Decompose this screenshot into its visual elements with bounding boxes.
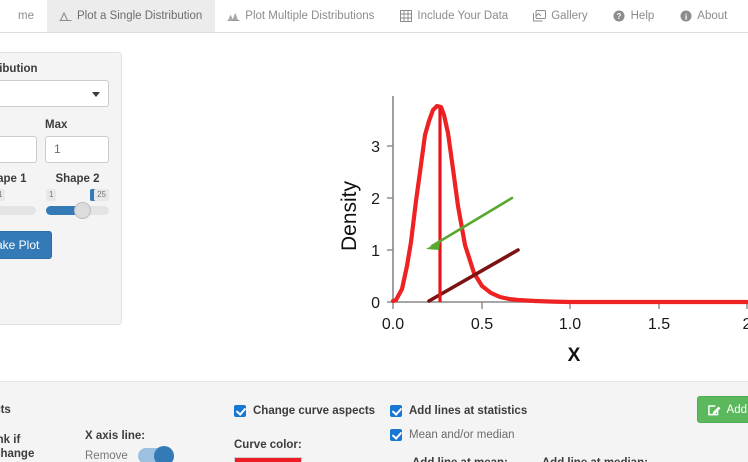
density-plot: 0 1 2 3 0.0 0.5 1.0 1.5 2 Density X xyxy=(130,40,748,370)
density-curve xyxy=(393,106,747,302)
svg-text:?: ? xyxy=(617,12,622,21)
x-tick-label-1: 0.5 xyxy=(471,316,493,333)
y-tick-label-2: 2 xyxy=(371,191,380,208)
app-root: me Plot a Single Distribution Plot Multi… xyxy=(0,0,748,462)
shape1-slider-group: Shape 1 25 1 xyxy=(0,163,36,215)
shape2-slider-handle[interactable] xyxy=(74,202,91,219)
info-circle-icon: i xyxy=(679,10,692,23)
x-tick-label-3: 1.5 xyxy=(648,316,670,333)
shape2-ticks: 1 13 25 xyxy=(46,189,109,203)
max-input[interactable]: 1 xyxy=(45,136,109,163)
shape1-left-tick: 1 xyxy=(0,189,5,201)
shape2-right-tick: 25 xyxy=(94,189,109,201)
tab-home[interactable]: me xyxy=(0,0,47,32)
toggle-knob xyxy=(154,446,174,462)
change-curve-aspects-checkbox-row[interactable]: Change curve aspects xyxy=(234,405,375,417)
change-curve-aspects-checkbox[interactable] xyxy=(234,405,246,417)
tab-help-label: Help xyxy=(631,10,655,22)
add-lines-at-statistics-label: Add lines at statistics xyxy=(409,405,527,417)
x-axis-line-group: X axis line: Remove xyxy=(85,430,174,462)
x-axis-line-value: Remove xyxy=(85,450,128,462)
x-tick-label-0: 0.0 xyxy=(382,316,404,333)
min-field-group: Min 0 xyxy=(0,119,37,163)
max-label: Max xyxy=(45,119,109,131)
distribution-label: Distribution xyxy=(0,63,109,75)
mean-and-or-median-checkbox-row[interactable]: Mean and/or median xyxy=(390,429,648,441)
tab-include-your-data-label: Include Your Data xyxy=(417,10,508,22)
tab-about-label: About xyxy=(697,10,727,22)
tab-plot-single-distribution[interactable]: Plot a Single Distribution xyxy=(47,0,215,32)
change-curve-aspects-group: Change curve aspects Curve color: xyxy=(234,405,375,462)
shape2-slider-track[interactable] xyxy=(46,206,109,215)
tab-home-label: me xyxy=(18,10,34,22)
shape1-title: Shape 1 xyxy=(0,173,36,185)
shape1-ticks: 25 1 xyxy=(0,189,36,203)
x-axis-title: X xyxy=(568,345,581,366)
add-button-label: Add xyxy=(727,404,747,416)
tab-help[interactable]: ? Help xyxy=(601,0,668,32)
chevron-down-icon xyxy=(92,92,100,97)
x-axis-line-label: X axis line: xyxy=(85,430,174,442)
tab-plot-multiple-distributions-label: Plot Multiple Distributions xyxy=(245,10,374,22)
tab-plot-multiple-distributions[interactable]: Plot Multiple Distributions xyxy=(215,0,387,32)
main-navbar: me Plot a Single Distribution Plot Multi… xyxy=(0,0,748,33)
add-button[interactable]: Add xyxy=(697,396,748,423)
max-field-group: Max 1 xyxy=(45,119,109,163)
x-axis-ticks: 0.0 0.5 1.0 1.5 2 xyxy=(382,302,748,333)
tab-gallery[interactable]: Gallery xyxy=(521,0,600,32)
add-line-at-median-label: Add line at median: xyxy=(542,457,648,462)
distribution-select[interactable] xyxy=(0,80,109,107)
x-tick-label-4: 2 xyxy=(743,316,748,333)
dark-red-line xyxy=(429,250,518,301)
tab-about[interactable]: i About xyxy=(667,0,740,32)
gallery-icon xyxy=(533,10,546,23)
y-axis-title: Density xyxy=(338,180,361,251)
controls-sidebar: Distribution Min 0 Max 1 Shape 1 25 1 xyxy=(0,52,122,325)
home-icon xyxy=(0,10,13,23)
options-panel: aspects t blank if t to change X axis li… xyxy=(0,381,748,462)
table-icon xyxy=(399,10,412,23)
plot-aspects-heading: aspects xyxy=(0,404,11,416)
add-lines-at-statistics-group: Add lines at statistics Mean and/or medi… xyxy=(390,405,648,462)
question-circle-icon: ? xyxy=(613,10,626,23)
leave-blank-line2: t to change xyxy=(0,448,34,460)
shape2-title: Shape 2 xyxy=(46,173,109,185)
mean-and-or-median-checkbox[interactable] xyxy=(390,429,402,441)
y-tick-label-3: 3 xyxy=(371,139,380,156)
multiple-distributions-icon xyxy=(227,10,240,23)
x-axis-line-toggle[interactable] xyxy=(138,448,174,462)
make-plot-button[interactable]: Make Plot xyxy=(0,231,52,259)
leave-blank-note: t blank if t to change xyxy=(0,434,34,460)
min-input[interactable]: 0 xyxy=(0,136,37,163)
mean-and-or-median-label: Mean and/or median xyxy=(409,429,514,441)
y-tick-label-1: 1 xyxy=(371,243,380,260)
x-tick-label-2: 1.0 xyxy=(559,316,581,333)
density-plot-svg: 0 1 2 3 0.0 0.5 1.0 1.5 2 Density X xyxy=(130,40,748,370)
shape1-slider-track[interactable] xyxy=(0,206,36,215)
leave-blank-line1: t blank if xyxy=(0,434,34,446)
tab-gallery-label: Gallery xyxy=(551,10,587,22)
curve-color-label: Curve color: xyxy=(234,439,375,451)
edit-pencil-icon xyxy=(708,403,721,416)
add-lines-at-statistics-checkbox[interactable] xyxy=(390,405,402,417)
shape2-left-tick: 1 xyxy=(46,189,56,201)
tab-plot-single-distribution-label: Plot a Single Distribution xyxy=(77,10,202,22)
y-axis-ticks: 0 1 2 3 xyxy=(371,139,393,312)
tab-include-your-data[interactable]: Include Your Data xyxy=(387,0,521,32)
add-line-at-mean-label: Add line at mean: xyxy=(412,457,508,462)
min-label: Min xyxy=(0,119,37,131)
add-lines-at-statistics-checkbox-row[interactable]: Add lines at statistics xyxy=(390,405,648,417)
change-curve-aspects-label: Change curve aspects xyxy=(253,405,375,417)
y-tick-label-0: 0 xyxy=(371,295,380,312)
curve-color-swatch[interactable] xyxy=(234,457,302,462)
shape2-slider-group: Shape 2 1 13 25 xyxy=(46,163,109,215)
min-max-row: Min 0 Max 1 xyxy=(0,119,109,163)
shape-sliders-row: Shape 1 25 1 Shape 2 1 13 xyxy=(0,163,109,215)
single-distribution-icon xyxy=(59,10,72,23)
